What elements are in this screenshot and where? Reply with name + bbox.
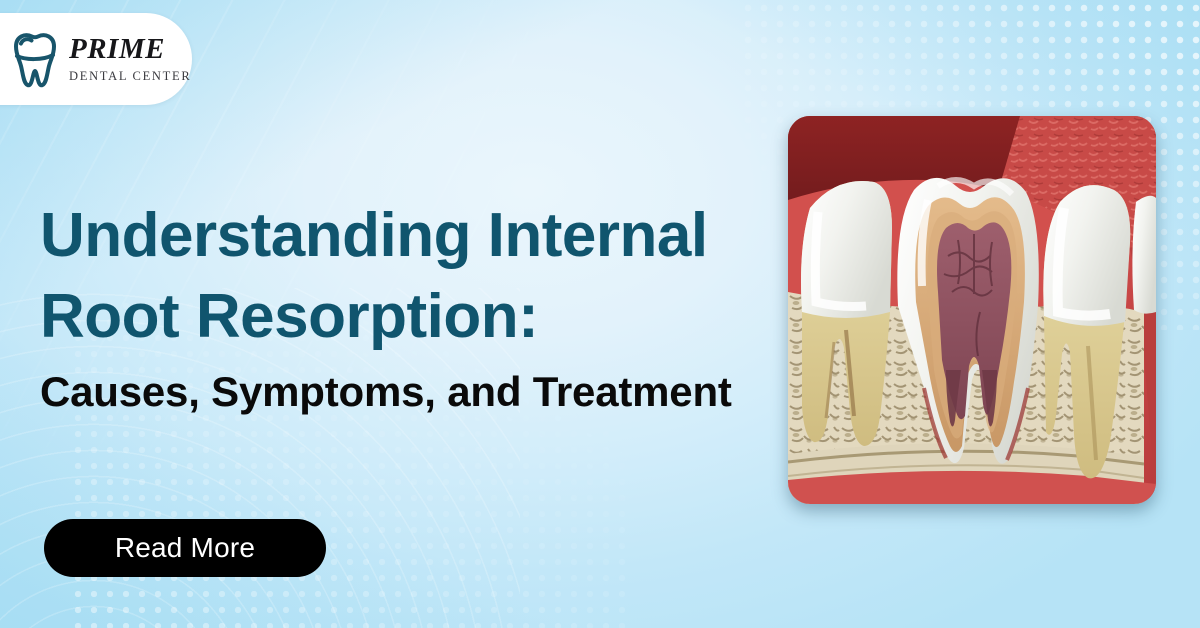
subheadline: Causes, Symptoms, and Treatment (40, 365, 780, 419)
read-more-button[interactable]: Read More (44, 519, 326, 577)
brand-name: PRIME (69, 35, 191, 64)
headline-line-2: Root Resorption: (40, 277, 780, 358)
tooth-cross-section-illustration (788, 116, 1156, 504)
headline-block: Understanding Internal Root Resorption: … (40, 196, 780, 419)
headline-line-1: Understanding Internal (40, 196, 780, 277)
brand-logo[interactable]: PRIME DENTAL CENTER (0, 13, 192, 105)
brand-wordmark: PRIME DENTAL CENTER (69, 35, 191, 83)
tooth-icon (10, 30, 60, 88)
brand-tagline: DENTAL CENTER (69, 70, 191, 83)
blog-banner: PRIME DENTAL CENTER Understanding Intern… (0, 0, 1200, 628)
